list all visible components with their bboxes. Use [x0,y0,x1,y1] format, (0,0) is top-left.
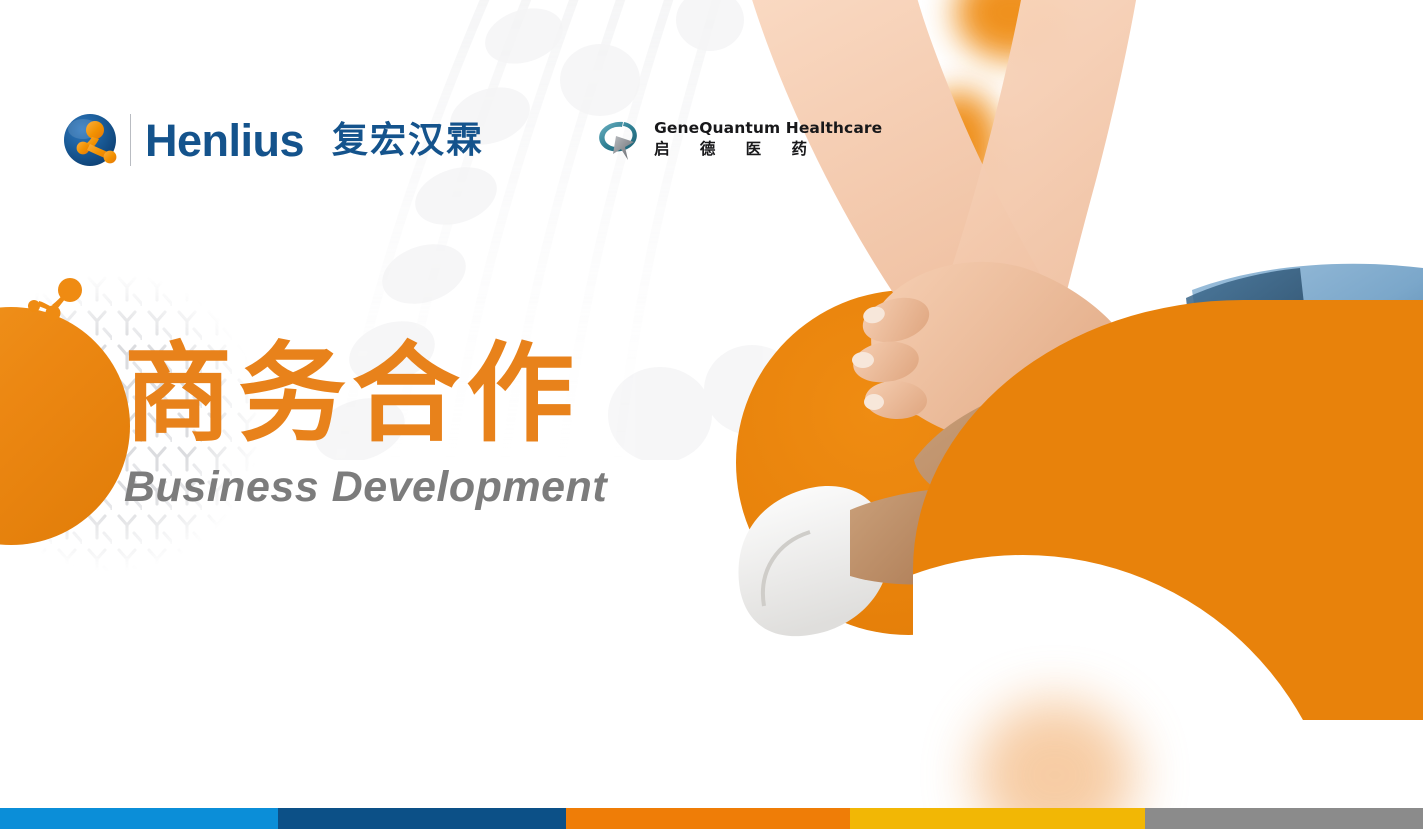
bar-segment-orange [566,808,850,829]
bar-segment-light-blue [0,808,278,829]
genequantum-chinese-name: 启 德 医 药 [654,140,882,160]
henlius-logo[interactable]: Henlius 复宏汉霖 [62,112,484,168]
slide-title-chinese: 商务合作 [124,338,607,452]
presentation-slide: Henlius 复宏汉霖 [0,0,1423,829]
slide-title-english: Business Development [124,464,607,511]
bar-segment-gray [1145,808,1423,829]
genequantum-english-name: GeneQuantum Healthcare [654,120,882,138]
henlius-wordmark: Henlius [145,118,304,163]
title-block: 商务合作 Business Development [124,338,607,512]
logo-lockup-row: Henlius 复宏汉霖 [62,104,882,176]
genequantum-logo[interactable]: GeneQuantum Healthcare 启 德 医 药 [594,116,882,164]
bar-segment-navy [278,808,566,829]
logo-divider [130,114,131,166]
molecule-icon [26,276,88,332]
henlius-logo-mark [62,112,118,168]
henlius-chinese-name: 复宏汉霖 [332,122,484,158]
bottom-color-bar [0,808,1423,829]
genequantum-logo-mark [594,116,642,164]
sweep-white-cutout [913,555,1343,720]
bar-segment-gold [850,808,1145,829]
